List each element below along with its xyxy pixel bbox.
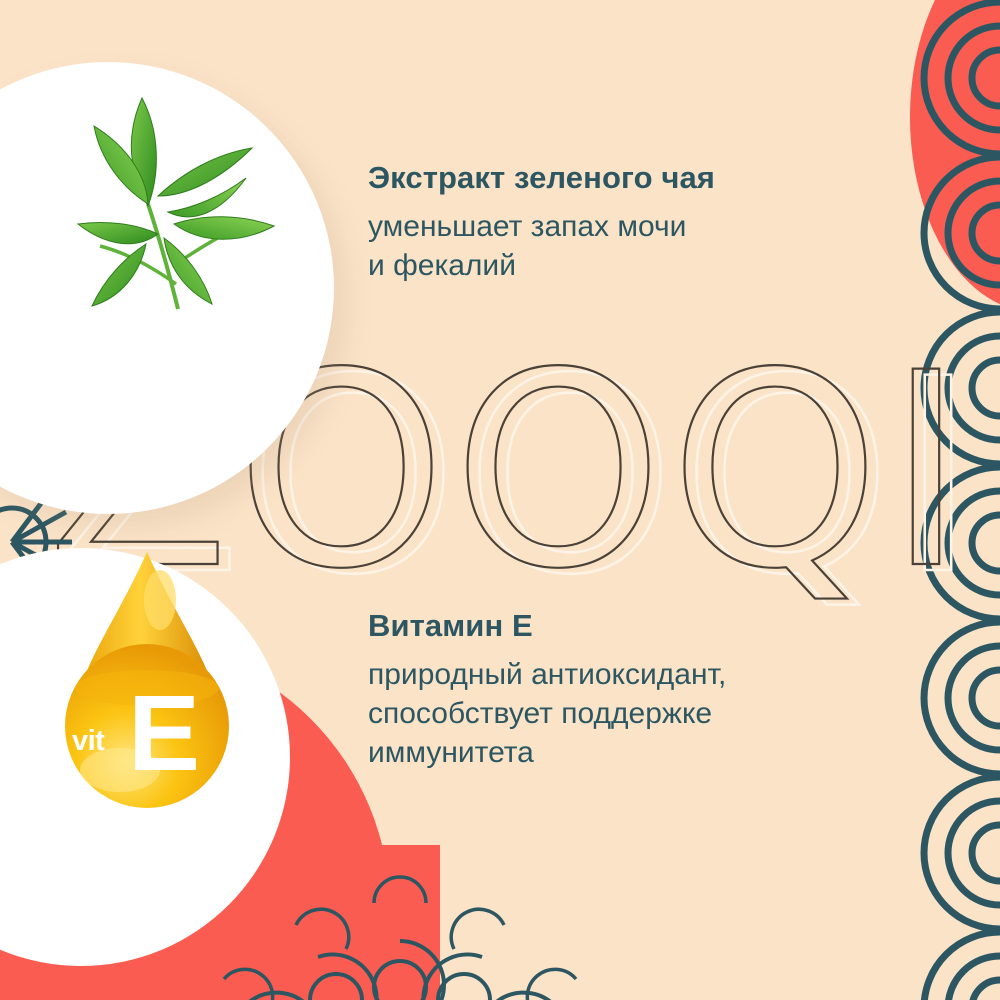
vitamin-e-droplet-icon (42, 548, 252, 820)
feature-green-tea-text: Экстракт зеленого чая уменьшает запах мо… (368, 160, 888, 285)
vitamin-e-body: природный антиоксидант, способствует под… (368, 655, 908, 772)
arc-border-pattern (890, 0, 1000, 1000)
green-tea-heading: Экстракт зеленого чая (368, 160, 888, 197)
green-tea-leaves-icon (8, 74, 308, 324)
feature-vitamin-e-text: Витамин Е природный антиоксидант, способ… (368, 608, 908, 772)
green-tea-body: уменьшает запах мочи и фекалий (368, 207, 888, 285)
promo-card: ZOOQI ZOOQI (0, 0, 1000, 1000)
vitamin-e-heading: Витамин Е (368, 608, 908, 645)
mandala-pattern (120, 855, 680, 1000)
